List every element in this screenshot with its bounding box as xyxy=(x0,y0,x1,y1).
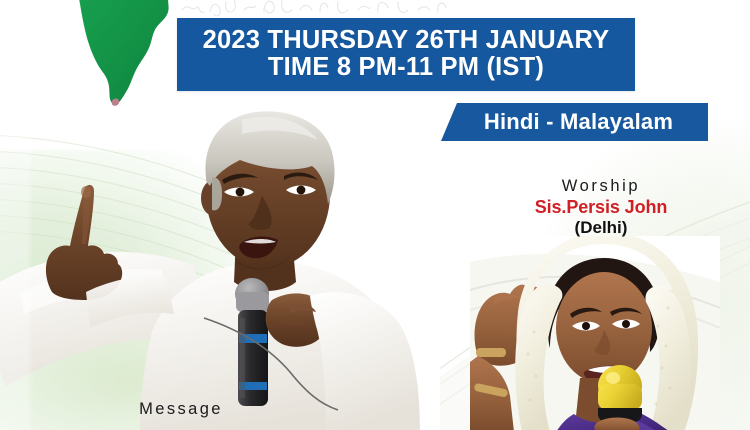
worship-credit: Worship Sis.Persis John (Delhi) xyxy=(506,177,696,238)
worship-person-city: (Delhi) xyxy=(506,218,696,238)
worship-role-label: Worship xyxy=(506,177,696,196)
decorative-script-watermark xyxy=(178,0,478,18)
date-banner: 2023 THURSDAY 26TH JANUARY TIME 8 PM-11 … xyxy=(177,18,635,91)
language-banner: Hindi - Malayalam xyxy=(441,103,708,141)
message-role-label: Message xyxy=(116,400,246,419)
preacher-photo xyxy=(0,86,490,430)
language-banner-label: Hindi - Malayalam xyxy=(476,109,673,135)
worship-person-name: Sis.Persis John xyxy=(506,197,696,218)
message-credit: Message xyxy=(116,400,246,421)
worship-leader-photo xyxy=(470,236,720,430)
microphone-black xyxy=(235,278,269,406)
date-line-1: 2023 THURSDAY 26TH JANUARY xyxy=(203,27,610,53)
event-poster: 2023 THURSDAY 26TH JANUARY TIME 8 PM-11 … xyxy=(0,0,750,430)
date-line-2: TIME 8 PM-11 PM (IST) xyxy=(268,54,544,81)
